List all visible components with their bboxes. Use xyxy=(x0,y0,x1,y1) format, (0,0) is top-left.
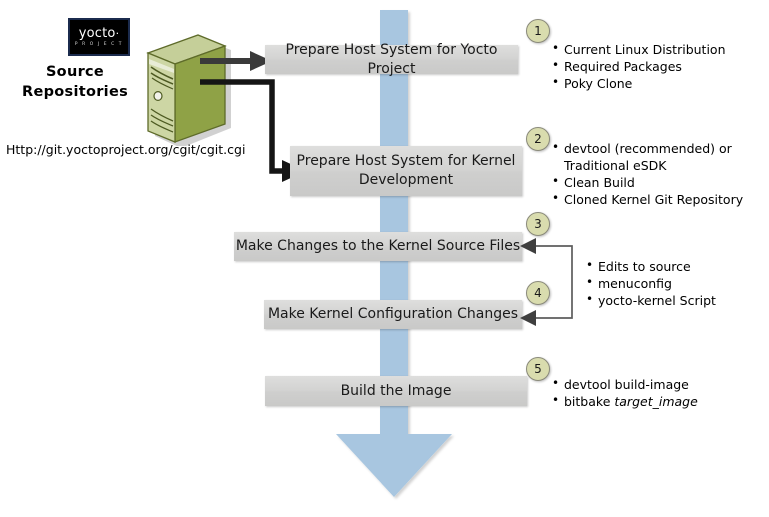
step-2-box[interactable]: Prepare Host System for Kernel Developme… xyxy=(290,146,522,196)
step-3-number-badge: 3 xyxy=(526,212,550,236)
step-3-box[interactable]: Make Changes to the Kernel Source Files xyxy=(234,232,522,261)
list-item: bitbake target_image xyxy=(552,393,698,410)
step-1-number: 1 xyxy=(534,24,542,38)
steps-3-4-feedback-bracket xyxy=(518,234,590,330)
step-3-box-label: Make Changes to the Kernel Source Files xyxy=(236,237,520,256)
list-item: devtool (recommended) or Traditional eSD… xyxy=(552,140,732,174)
step-4-box[interactable]: Make Kernel Configuration Changes xyxy=(264,300,522,329)
step-4-box-label: Make Kernel Configuration Changes xyxy=(268,305,518,324)
source-repositories-label: Source Repositories xyxy=(10,62,140,102)
list-item: Current Linux Distribution xyxy=(552,41,726,58)
yocto-project-logo: yocto· P R O J E C T xyxy=(68,18,130,56)
step-2-bullets: devtool (recommended) or Traditional eSD… xyxy=(552,140,743,208)
step-1-box-label: Prepare Host System for Yocto Project xyxy=(265,41,518,79)
list-item: yocto-kernel Script xyxy=(586,292,716,309)
source-label-line2: Repositories xyxy=(10,82,140,102)
step-5-box-label: Build the Image xyxy=(341,382,452,401)
step-4-number: 4 xyxy=(534,286,542,300)
yocto-logo-word: yocto· xyxy=(79,27,120,40)
step-2-number-badge: 2 xyxy=(526,127,550,151)
list-item: Required Packages xyxy=(552,58,726,75)
step-5-bullet-1-text: devtool build-image xyxy=(564,377,689,392)
step-5-number: 5 xyxy=(534,362,542,376)
list-item: Poky Clone xyxy=(552,75,726,92)
list-item: Clean Build xyxy=(552,174,743,191)
step-1-bullets: Current Linux Distribution Required Pack… xyxy=(552,41,726,92)
yocto-logo-subtitle: P R O J E C T xyxy=(75,41,123,48)
step-1-box[interactable]: Prepare Host System for Yocto Project xyxy=(265,45,518,74)
list-item: devtool build-image xyxy=(552,376,698,393)
step-3-number: 3 xyxy=(534,217,542,231)
list-item: Edits to source xyxy=(586,258,716,275)
step-2-number: 2 xyxy=(534,132,542,146)
step-2-box-label-line1: Prepare Host System for Kernel xyxy=(297,152,516,171)
source-label-line1: Source xyxy=(10,62,140,82)
list-item: Cloned Kernel Git Repository xyxy=(552,191,743,208)
step-4-number-badge: 4 xyxy=(526,281,550,305)
diagram-canvas: yocto· P R O J E C T Source Repositories… xyxy=(0,0,769,517)
step-5-box[interactable]: Build the Image xyxy=(265,376,527,406)
step-2-box-label-line2: Development xyxy=(359,171,453,190)
list-item: menuconfig xyxy=(586,275,716,292)
step-5-bullet-2-text: bitbake xyxy=(564,394,614,409)
step-1-number-badge: 1 xyxy=(526,19,550,43)
step-5-bullets: devtool build-image bitbake target_image xyxy=(552,376,698,410)
step-5-number-badge: 5 xyxy=(526,357,550,381)
step-5-bullet-2-italic: target_image xyxy=(614,394,697,409)
steps-3-4-shared-bullets: Edits to source menuconfig yocto-kernel … xyxy=(586,258,716,309)
